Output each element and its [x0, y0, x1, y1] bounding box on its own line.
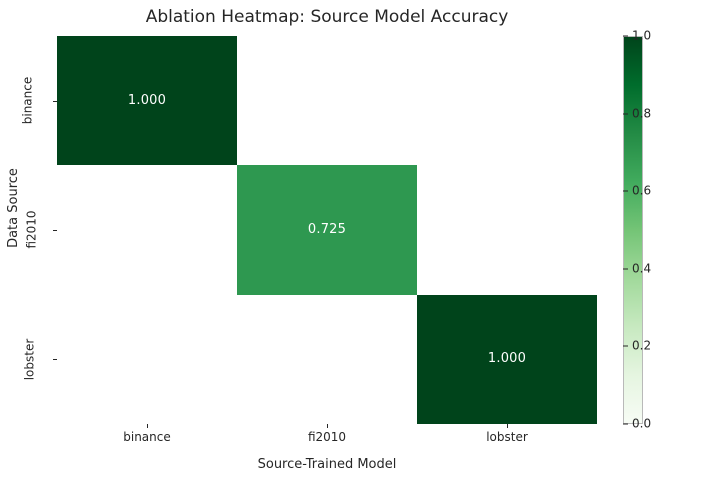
y-tick-lobster: lobster: [0, 295, 57, 424]
colorbar-tick-mark: [623, 346, 628, 347]
heatmap-cell: 0.725: [237, 165, 417, 294]
colorbar-tick-label: 1.0: [632, 29, 651, 44]
heatmap-figure: Ablation Heatmap: Source Model Accuracy …: [0, 0, 702, 486]
heatmap-cell-value: 1.000: [488, 351, 526, 367]
colorbar-tick-label: 0.8: [632, 106, 651, 121]
x-tick-mark: [147, 424, 148, 428]
y-tick-label: binance: [20, 77, 35, 125]
y-tick-label: fi2010: [24, 211, 39, 249]
colorbar-tick-label: 0.2: [632, 339, 651, 354]
colorbar-tick: 0.6: [623, 184, 651, 199]
x-tick-mark: [327, 424, 328, 428]
x-tick-label: binance: [57, 430, 237, 445]
heatmap-cell: [417, 36, 597, 165]
page-title: Ablation Heatmap: Source Model Accuracy: [57, 6, 597, 28]
heatmap-cell: [57, 165, 237, 294]
x-tick-mark: [507, 424, 508, 428]
colorbar-tick-mark: [623, 191, 628, 192]
heatmap-cell: 1.000: [417, 295, 597, 424]
colorbar-tick: 0.0: [623, 417, 651, 432]
colorbar-tick-mark: [623, 268, 628, 269]
colorbar-tick: 1.0: [623, 29, 651, 44]
colorbar-tick-mark: [623, 424, 628, 425]
x-axis-label: Source-Trained Model: [57, 457, 597, 473]
heatmap-cell-value: 0.725: [308, 222, 346, 238]
y-tick-binance: binance: [0, 36, 57, 165]
x-tick-binance: binance: [57, 424, 237, 445]
colorbar-tick-label: 0.0: [632, 417, 651, 432]
heatmap-cell: [57, 295, 237, 424]
colorbar[interactable]: [623, 36, 643, 424]
colorbar-tick: 0.4: [623, 261, 651, 276]
x-tick-label: fi2010: [237, 430, 417, 445]
heatmap-grid: 1.0000.7251.000: [57, 36, 597, 424]
heatmap-cell: [237, 36, 417, 165]
colorbar-tick-mark: [623, 36, 628, 37]
colorbar-gradient: [623, 36, 643, 424]
colorbar-tick-label: 0.6: [632, 184, 651, 199]
heatmap-cell-value: 1.000: [128, 93, 166, 109]
y-tick-label: lobster: [23, 339, 38, 381]
heatmap-cell: 1.000: [57, 36, 237, 165]
x-tick-lobster: lobster: [417, 424, 597, 445]
colorbar-tick: 0.8: [623, 106, 651, 121]
x-tick-fi2010: fi2010: [237, 424, 417, 445]
colorbar-tick-label: 0.4: [632, 261, 651, 276]
colorbar-tick-mark: [623, 113, 628, 114]
heatmap-cell: [237, 295, 417, 424]
colorbar-tick: 0.2: [623, 339, 651, 354]
x-tick-label: lobster: [417, 430, 597, 445]
y-tick-fi2010: fi2010: [0, 165, 57, 294]
heatmap-cell: [417, 165, 597, 294]
